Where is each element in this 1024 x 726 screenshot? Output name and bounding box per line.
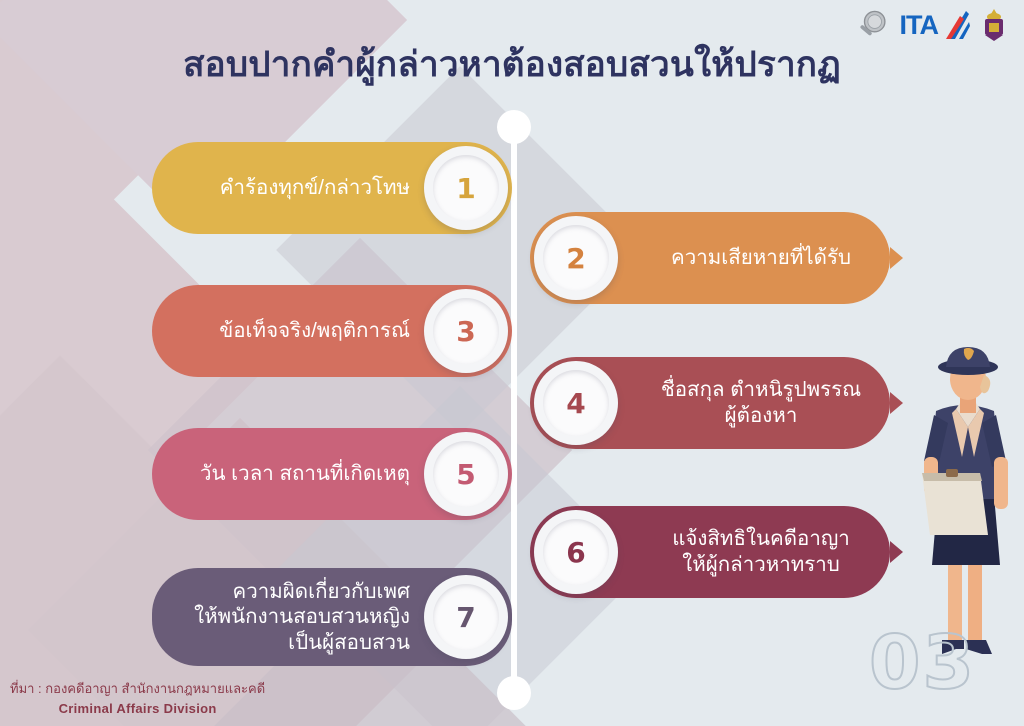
step-label: ความเสียหายที่ได้รับ bbox=[618, 245, 890, 271]
step-item-4[interactable]: 4 ชื่อสกุล ตำหนิรูปพรรณ ผู้ต้องหา bbox=[530, 357, 890, 449]
step-label: แจ้งสิทธิในคดีอาญา ให้ผู้กล่าวหาทราบ bbox=[618, 526, 890, 577]
timeline-end-dot bbox=[497, 676, 531, 710]
section-number-watermark: 03 bbox=[869, 626, 976, 700]
step-label: ข้อเท็จจริง/พฤติการณ์ bbox=[219, 318, 424, 344]
credit-line-1: ที่มา : กองคดีอาญา สำนักงานกฎหมายและคดี bbox=[10, 679, 265, 699]
step-number-badge: 7 bbox=[424, 575, 508, 659]
credit-line-2: Criminal Affairs Division bbox=[10, 699, 265, 719]
thai-royal-garuda-emblem-icon bbox=[980, 8, 1008, 42]
step-label: คำร้องทุกข์/กล่าวโทษ bbox=[220, 175, 424, 201]
timeline-line bbox=[511, 120, 517, 690]
infographic-canvas: ITA สอบปากคำผู้กล่าวหาต้องสอบสวนให้ปรากฏ… bbox=[0, 0, 1024, 726]
step-number-badge: 3 bbox=[424, 289, 508, 373]
step-label: ความผิดเกี่ยวกับเพศ ให้พนักงานสอบสวนหญิง… bbox=[194, 579, 424, 656]
step-item-3[interactable]: ข้อเท็จจริง/พฤติการณ์ 3 bbox=[152, 285, 512, 377]
page-title: สอบปากคำผู้กล่าวหาต้องสอบสวนให้ปรากฏ bbox=[0, 44, 1024, 86]
step-number: 3 bbox=[456, 315, 475, 348]
step-number-badge: 1 bbox=[424, 146, 508, 230]
step-number: 4 bbox=[566, 387, 585, 420]
ita-swoosh-icon bbox=[944, 10, 970, 40]
step-number: 7 bbox=[456, 601, 475, 634]
step-number-badge: 2 bbox=[534, 216, 618, 300]
step-number: 6 bbox=[566, 536, 585, 569]
logo-bar: ITA bbox=[856, 8, 1009, 42]
magnifier-emblem-icon bbox=[856, 8, 890, 42]
step-number: 2 bbox=[566, 242, 585, 275]
ita-logo-text: ITA bbox=[900, 10, 939, 41]
step-number: 1 bbox=[456, 172, 475, 205]
step-notch-icon bbox=[890, 247, 903, 269]
step-item-6[interactable]: 6 แจ้งสิทธิในคดีอาญา ให้ผู้กล่าวหาทราบ bbox=[530, 506, 890, 598]
step-item-2[interactable]: 2 ความเสียหายที่ได้รับ bbox=[530, 212, 890, 304]
timeline-start-dot bbox=[497, 110, 531, 144]
step-item-5[interactable]: วัน เวลา สถานที่เกิดเหตุ 5 bbox=[152, 428, 512, 520]
step-item-7[interactable]: ความผิดเกี่ยวกับเพศ ให้พนักงานสอบสวนหญิง… bbox=[152, 568, 512, 666]
step-number-badge: 4 bbox=[534, 361, 618, 445]
step-label: วัน เวลา สถานที่เกิดเหตุ bbox=[200, 461, 424, 487]
step-item-1[interactable]: คำร้องทุกข์/กล่าวโทษ 1 bbox=[152, 142, 512, 234]
step-number: 5 bbox=[456, 458, 475, 491]
step-label: ชื่อสกุล ตำหนิรูปพรรณ ผู้ต้องหา bbox=[618, 377, 890, 428]
source-credit: ที่มา : กองคดีอาญา สำนักงานกฎหมายและคดี … bbox=[10, 679, 265, 718]
step-number-badge: 6 bbox=[534, 510, 618, 594]
step-number-badge: 5 bbox=[424, 432, 508, 516]
